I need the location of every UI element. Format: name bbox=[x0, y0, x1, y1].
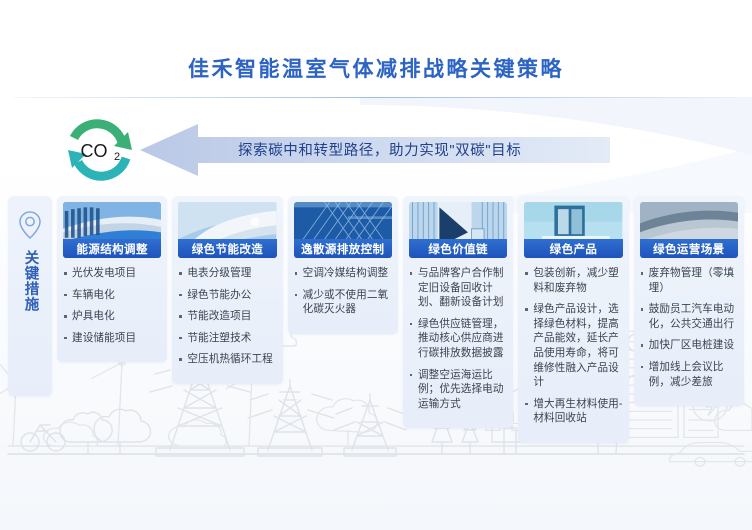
car-icon bbox=[669, 443, 752, 466]
list-item: 与品牌客户合作制定旧设备回收计划、翻新设备计划 bbox=[409, 266, 507, 310]
power-pylon-icon bbox=[248, 380, 334, 456]
column-bullet-list: 光伏发电项目 车辆电化 炉具电化 建设储能项目 bbox=[63, 266, 161, 352]
list-item: 包装创新，减少塑料和废弃物 bbox=[524, 266, 622, 295]
column-image-wrap: 绿色节能改造 bbox=[178, 202, 276, 258]
column-image-wrap: 绿色产品 bbox=[524, 202, 622, 258]
column-caption: 绿色价值链 bbox=[409, 239, 507, 258]
page-title: 佳禾智能温室气体减排战略关键策略 bbox=[0, 57, 752, 83]
column-image-wrap: 绿色运营场景 bbox=[640, 202, 738, 258]
list-item: 建设储能项目 bbox=[63, 331, 161, 346]
tree-icon bbox=[60, 409, 151, 454]
banner-row: CO 2 探索碳中和转型路径，助力实现"双碳"目标 bbox=[0, 108, 752, 188]
column-bullet-list: 电表分级管理 绿色节能办公 节能改造项目 节能注塑技术 空压机热循环工程 bbox=[178, 266, 276, 374]
arrow-banner-text: 探索碳中和转型路径，助力实现"双碳"目标 bbox=[238, 139, 618, 160]
column-caption: 绿色节能改造 bbox=[178, 239, 276, 258]
column-card[interactable]: 绿色价值链 与品牌客户合作制定旧设备回收计划、翻新设备计划 绿色供应链管理，推动… bbox=[403, 196, 513, 428]
power-pylon-icon bbox=[334, 394, 406, 456]
list-item: 空压机热循环工程 bbox=[178, 352, 276, 367]
list-item: 绿色产品设计，选择绿色材料，提高产品能效，延长产品使用寿命，将可维修性融入产品设… bbox=[524, 302, 622, 390]
location-pin-icon bbox=[17, 210, 43, 240]
column-caption: 绿色运营场景 bbox=[640, 239, 738, 258]
list-item: 节能改造项目 bbox=[178, 309, 276, 324]
slide-canvas: 佳禾智能温室气体减排战略关键策略 CO 2 探索碳中和转型路 bbox=[0, 0, 752, 530]
column-bullet-list: 废弃物管理（零填埋） 鼓励员工汽车电动化，公共交通出行 加快厂区电桩建设 增加线… bbox=[640, 266, 738, 396]
sidebar-label: 关键措施 bbox=[21, 250, 40, 312]
list-item: 减少或不使用二氧化碳灭火器 bbox=[294, 288, 392, 317]
column-bullet-list: 空调冷媒结构调整 减少或不使用二氧化碳灭火器 bbox=[294, 266, 392, 324]
co2-subscript: 2 bbox=[114, 151, 120, 163]
column-image-wrap: 绿色价值链 bbox=[409, 202, 507, 258]
list-item: 增大再生材料使用-材料回收站 bbox=[524, 397, 622, 426]
column-card[interactable]: 能源结构调整 光伏发电项目 车辆电化 炉具电化 建设储能项目 bbox=[57, 196, 167, 362]
list-item: 调整空运海运比例；优先选择电动运输方式 bbox=[409, 368, 507, 412]
column-image-wrap: 逸散源排放控制 bbox=[294, 202, 392, 258]
title-divider bbox=[14, 97, 738, 98]
bicycle-icon bbox=[21, 425, 65, 451]
column-caption: 逸散源排放控制 bbox=[294, 239, 392, 258]
column-card[interactable]: 逸散源排放控制 空调冷媒结构调整 减少或不使用二氧化碳灭火器 bbox=[288, 196, 398, 334]
list-item: 加快厂区电桩建设 bbox=[640, 338, 738, 353]
list-item: 绿色供应链管理，推动核心供应商进行碳排放数据披露 bbox=[409, 317, 507, 361]
column-bullet-list: 包装创新，减少塑料和废弃物 绿色产品设计，选择绿色材料，提高产品能效，延长产品使… bbox=[524, 266, 622, 433]
co2-recycle-icon: CO 2 bbox=[58, 116, 142, 184]
list-item: 节能注塑技术 bbox=[178, 331, 276, 346]
co2-label: CO bbox=[81, 141, 108, 161]
column-image-wrap: 能源结构调整 bbox=[63, 202, 161, 258]
list-item: 电表分级管理 bbox=[178, 266, 276, 281]
list-item: 炉具电化 bbox=[63, 309, 161, 324]
column-card[interactable]: 绿色节能改造 电表分级管理 绿色节能办公 节能改造项目 节能注塑技术 空压机热循… bbox=[172, 196, 282, 384]
list-item: 车辆电化 bbox=[63, 288, 161, 303]
column-card[interactable]: 绿色产品 包装创新，减少塑料和废弃物 绿色产品设计，选择绿色材料，提高产品能效，… bbox=[518, 196, 628, 443]
list-item: 增加线上会议比例，减少差旅 bbox=[640, 360, 738, 389]
list-item: 废弃物管理（零填埋） bbox=[640, 266, 738, 295]
list-item: 绿色节能办公 bbox=[178, 288, 276, 303]
list-item: 光伏发电项目 bbox=[63, 266, 161, 281]
page-title-wrap: 佳禾智能温室气体减排战略关键策略 bbox=[0, 57, 752, 83]
column-caption: 绿色产品 bbox=[524, 239, 622, 258]
list-item: 鼓励员工汽车电动化，公共交通出行 bbox=[640, 302, 738, 331]
sidebar-key-measures[interactable]: 关键措施 bbox=[8, 196, 52, 396]
column-caption: 能源结构调整 bbox=[63, 239, 161, 258]
column-card[interactable]: 绿色运营场景 废弃物管理（零填埋） 鼓励员工汽车电动化，公共交通出行 加快厂区电… bbox=[634, 196, 744, 406]
list-item: 空调冷媒结构调整 bbox=[294, 266, 392, 281]
column-bullet-list: 与品牌客户合作制定旧设备回收计划、翻新设备计划 绿色供应链管理，推动核心供应商进… bbox=[409, 266, 507, 418]
key-measures-panel: 关键措施 能源结构调整 光 bbox=[8, 196, 744, 386]
